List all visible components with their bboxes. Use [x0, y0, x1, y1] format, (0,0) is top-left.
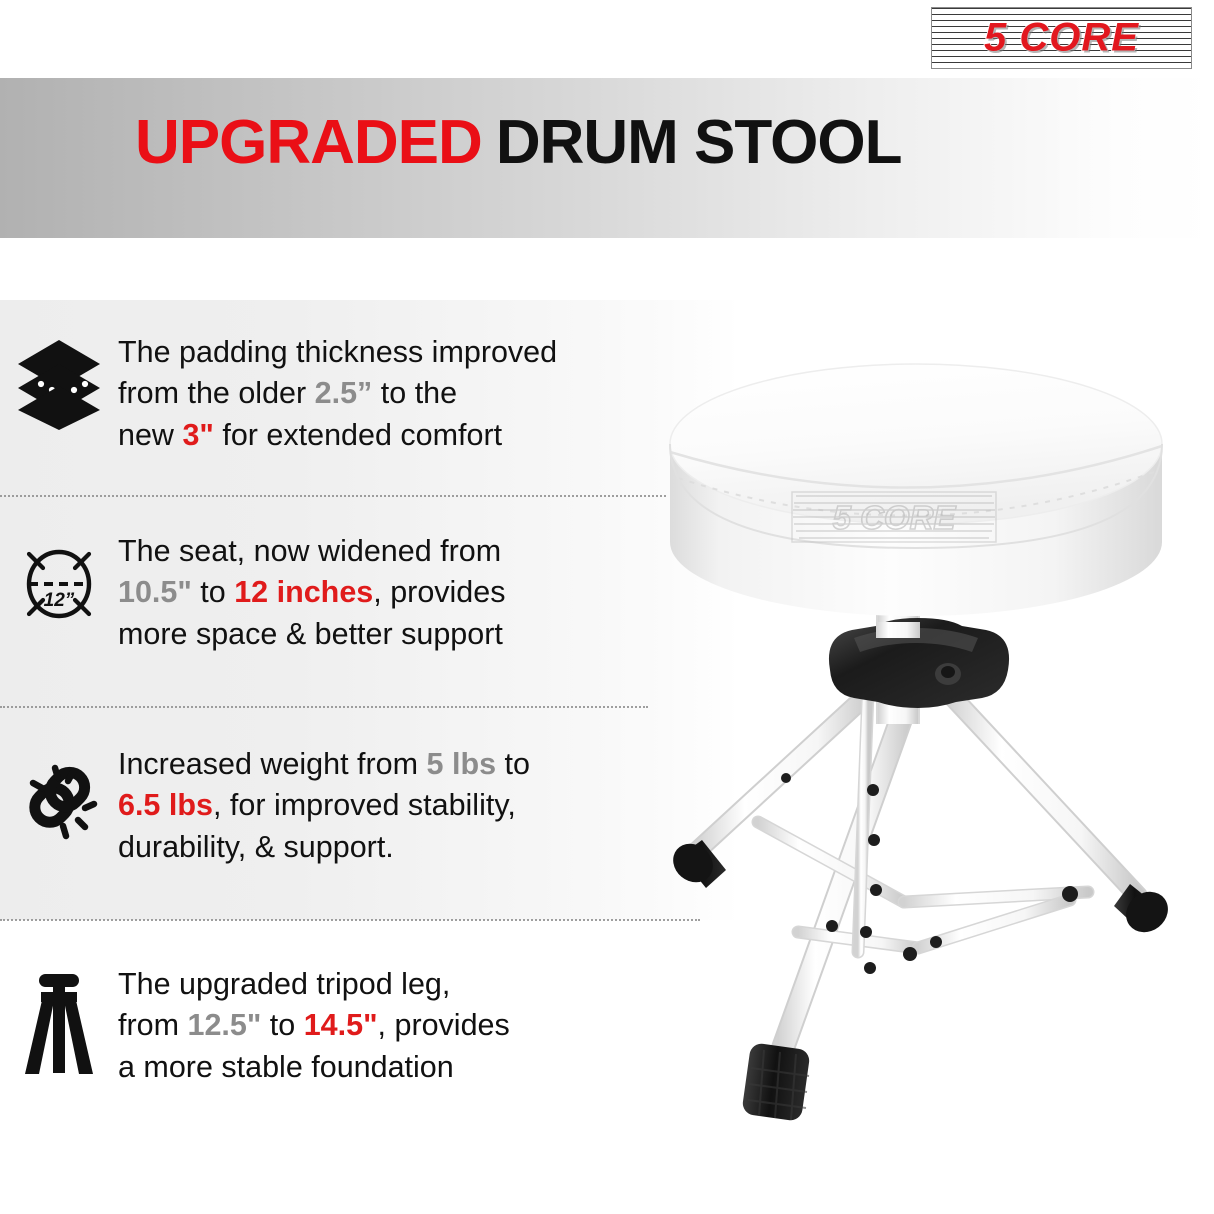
new-value: 12 inches [234, 575, 373, 609]
old-value: 12.5" [187, 1008, 261, 1042]
feature-row-padding-thickness: The padding thickness improvedfrom the o… [0, 332, 700, 456]
page-title-highlight: UPGRADED [135, 108, 482, 177]
text-segment: more space & better support [118, 617, 503, 651]
svg-text:5 CORE: 5 CORE [833, 499, 957, 536]
text-segment: to [192, 575, 234, 609]
new-value: 3" [182, 418, 213, 452]
feature-divider [0, 706, 648, 708]
text-segment: to [496, 747, 530, 781]
feature-text-line: The seat, now widened from [118, 531, 505, 572]
feature-text-line: more space & better support [118, 614, 505, 655]
feature-text-line: a more stable foundation [118, 1047, 510, 1088]
text-segment: from [118, 1008, 187, 1042]
feature-text-line: The upgraded tripod leg, [118, 964, 510, 1005]
old-value: 5 lbs [427, 747, 497, 781]
feature-text: The padding thickness improvedfrom the o… [118, 332, 557, 456]
feature-row-weight: Increased weight from 5 lbs to6.5 lbs, f… [0, 744, 700, 868]
feature-text-line: new 3" for extended comfort [118, 415, 557, 456]
feature-text-line: 10.5" to 12 inches, provides [118, 572, 505, 613]
layers-icon [0, 332, 118, 430]
text-segment: , provides [373, 575, 505, 609]
text-segment: from the older [118, 376, 315, 410]
feature-row-seat-width: 12” The seat, now widened from10.5" to 1… [0, 531, 700, 655]
feature-text: The upgraded tripod leg,from 12.5" to 14… [118, 964, 510, 1088]
feature-divider [0, 919, 700, 921]
feature-text-line: from 12.5" to 14.5", provides [118, 1005, 510, 1046]
feature-row-tripod-leg: The upgraded tripod leg,from 12.5" to 14… [0, 964, 700, 1088]
text-segment: a more stable foundation [118, 1050, 454, 1084]
feature-divider [0, 495, 666, 497]
new-value: 14.5" [304, 1008, 378, 1042]
product-photo-drum-stool: 5 CORE [618, 292, 1214, 1202]
text-segment: to [261, 1008, 303, 1042]
chain-link-icon [0, 744, 118, 846]
feature-text-line: 6.5 lbs, for improved stability, [118, 785, 530, 826]
feature-text: Increased weight from 5 lbs to6.5 lbs, f… [118, 744, 530, 868]
logo-text: 5 CORE [931, 16, 1192, 61]
text-segment: to the [372, 376, 457, 410]
feature-text-line: from the older 2.5” to the [118, 373, 557, 414]
tripod-icon [0, 964, 118, 1078]
feature-text-line: durability, & support. [118, 827, 530, 868]
drum-diameter-label: 12” [44, 590, 75, 611]
feature-text: The seat, now widened from10.5" to 12 in… [118, 531, 505, 655]
infographic-page: 5 CORE UPGRADEDDRUM STOOL The padding th… [0, 0, 1214, 1214]
feature-text-line: Increased weight from 5 lbs to [118, 744, 530, 785]
drum-diameter-icon: 12” [0, 531, 118, 631]
text-segment: The upgraded tripod leg, [118, 967, 450, 1001]
text-segment: , provides [378, 1008, 510, 1042]
text-segment: The padding thickness improved [118, 335, 557, 369]
five-core-logo: 5 CORE [931, 7, 1192, 69]
page-title-rest: DRUM STOOL [496, 108, 902, 177]
text-segment: for extended comfort [214, 418, 502, 452]
text-segment: durability, & support. [118, 830, 394, 864]
old-value: 2.5” [315, 376, 373, 410]
text-segment: new [118, 418, 182, 452]
new-value: 6.5 lbs [118, 788, 213, 822]
text-segment: The seat, now widened from [118, 534, 501, 568]
page-title: UPGRADEDDRUM STOOL [135, 112, 901, 174]
feature-text-line: The padding thickness improved [118, 332, 557, 373]
text-segment: Increased weight from [118, 747, 427, 781]
old-value: 10.5" [118, 575, 192, 609]
text-segment: , for improved stability, [213, 788, 516, 822]
